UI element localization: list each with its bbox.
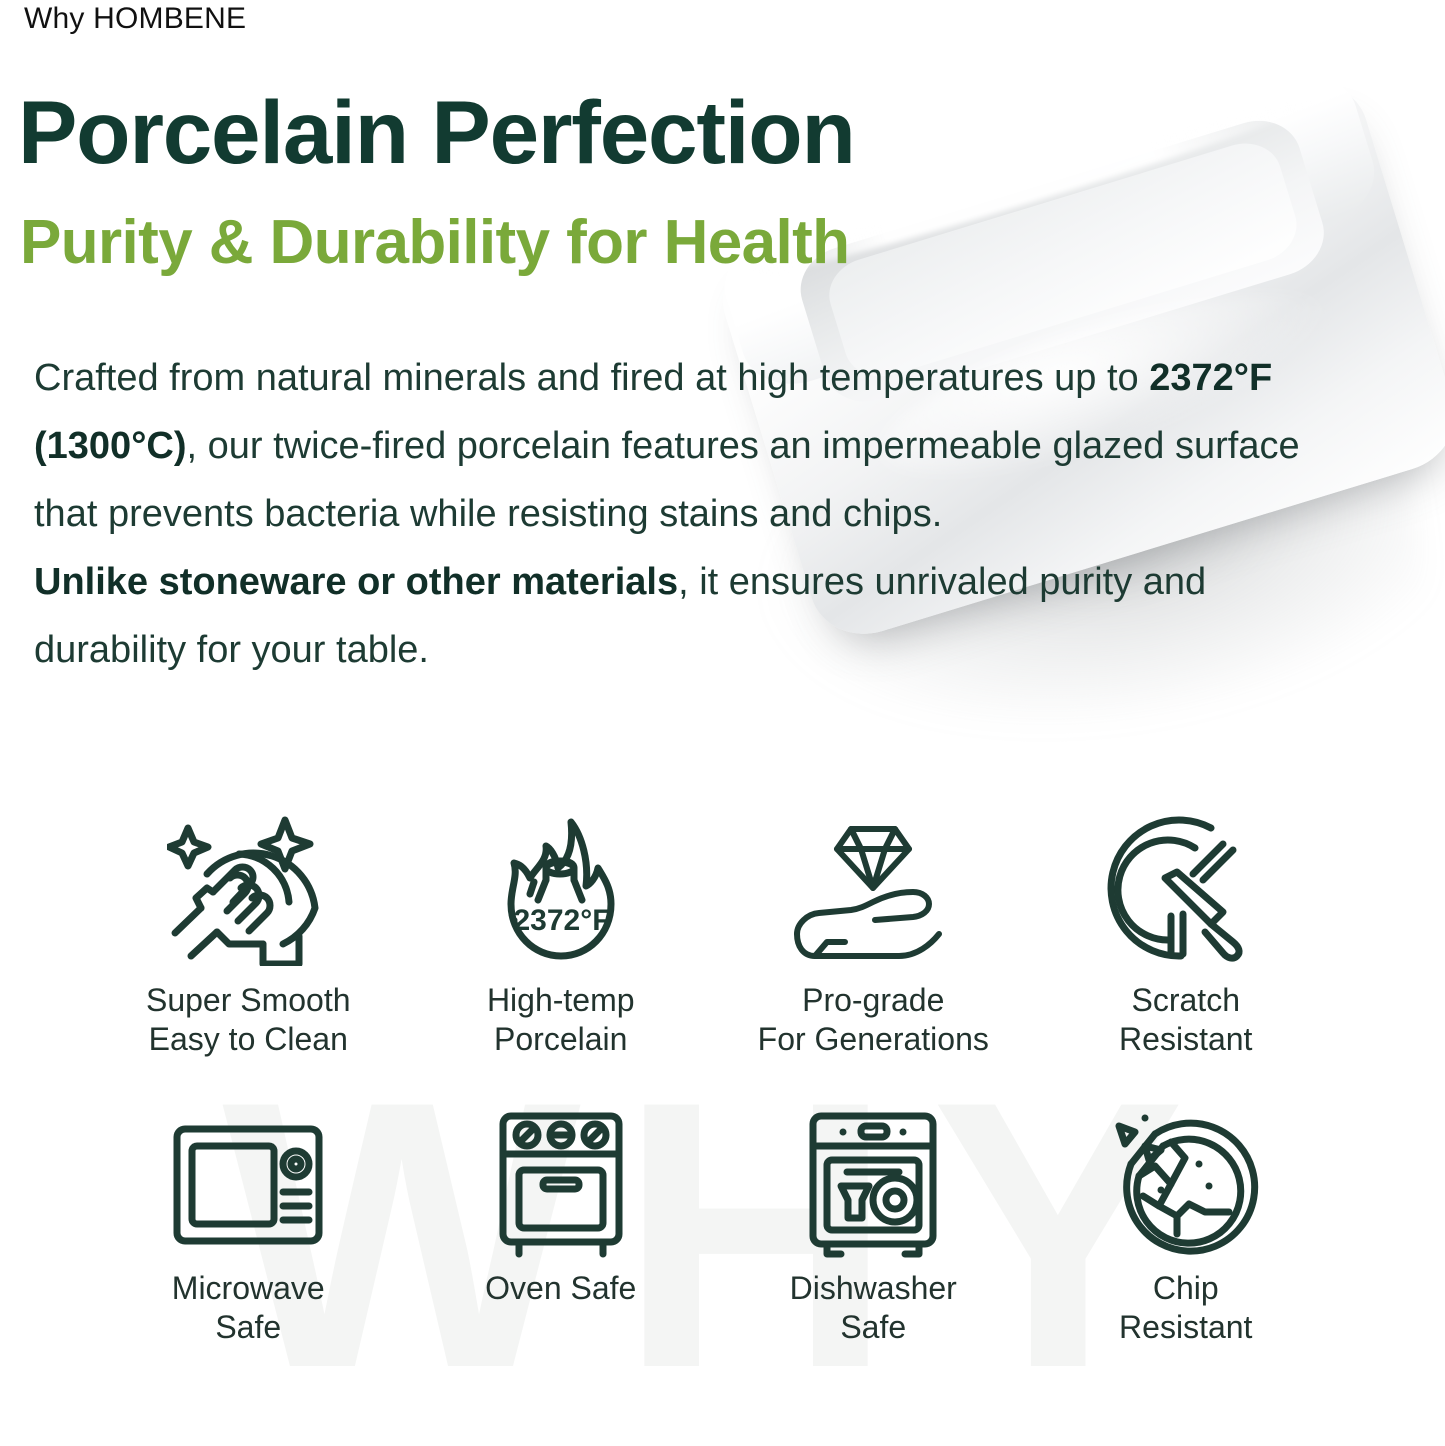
svg-text:2372°F: 2372°F [513,904,610,937]
feature-label: Dishwasher Safe [790,1269,957,1347]
feature-label: Pro-grade For Generations [758,981,989,1059]
infographic-page: WHY Why HOMBENE Porcelain Perfection Pur… [0,0,1445,1446]
feature-label: Scratch Resistant [1119,981,1252,1059]
feature-item-pro-grade: Pro-grade For Generations [717,805,1030,1105]
page-subtitle: Purity & Durability for Health [20,212,849,274]
feature-label: Chip Resistant [1119,1269,1252,1347]
oven-icon [497,1105,625,1265]
page-title: Porcelain Perfection [18,88,855,177]
feature-item-dishwasher-safe: Dishwasher Safe [717,1105,1030,1405]
body-paragraph-2: Unlike stoneware or other materials, it … [34,548,1364,684]
feature-label: Super Smooth Easy to Clean [146,981,351,1059]
body-p1-text-a: Crafted from natural minerals and fired … [34,357,1149,399]
feature-item-scratch-resistant: Scratch Resistant [1030,805,1343,1105]
feature-item-super-smooth: Super Smooth Easy to Clean [92,805,405,1105]
body-copy: Crafted from natural minerals and fired … [34,344,1364,684]
dishwasher-icon [807,1105,939,1265]
diamond-in-hand-icon [789,805,957,977]
feature-label: High-temp Porcelain [487,981,635,1059]
feature-item-microwave-safe: Microwave Safe [92,1105,405,1405]
feature-label: Microwave Safe [172,1269,325,1347]
feature-grid: Super Smooth Easy to Clean 2372°F [92,805,1342,1405]
comparison-emphasis: Unlike stoneware or other materials [34,561,678,603]
knife-on-plate-icon [1107,805,1265,977]
cracked-plate-icon [1111,1105,1261,1265]
feature-item-oven-safe: Oven Safe [405,1105,718,1405]
body-paragraph-1: Crafted from natural minerals and fired … [34,357,1300,535]
brand-eyebrow: Why HOMBENE [24,2,246,36]
body-p1-text-b: , our twice-fired porcelain features an … [34,425,1300,535]
hand-polish-sparkle-icon [167,805,329,977]
feature-label: Oven Safe [485,1269,636,1308]
feature-item-high-temp: 2372°F High-temp Porcelain [405,805,718,1105]
flame-temperature-icon: 2372°F [486,805,636,977]
feature-item-chip-resistant: Chip Resistant [1030,1105,1343,1405]
microwave-icon [172,1105,324,1265]
